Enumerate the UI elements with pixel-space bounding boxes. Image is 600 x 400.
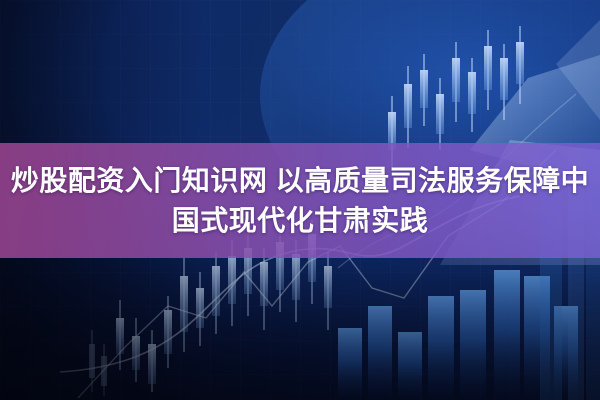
title-overlay-band: 炒股配资入门知识网 以高质量司法服务保障中国式现代化甘肃实践 <box>0 143 600 258</box>
page-title: 炒股配资入门知识网 以高质量司法服务保障中国式现代化甘肃实践 <box>10 161 590 241</box>
promo-banner: 炒股配资入门知识网 以高质量司法服务保障中国式现代化甘肃实践 <box>0 0 600 400</box>
